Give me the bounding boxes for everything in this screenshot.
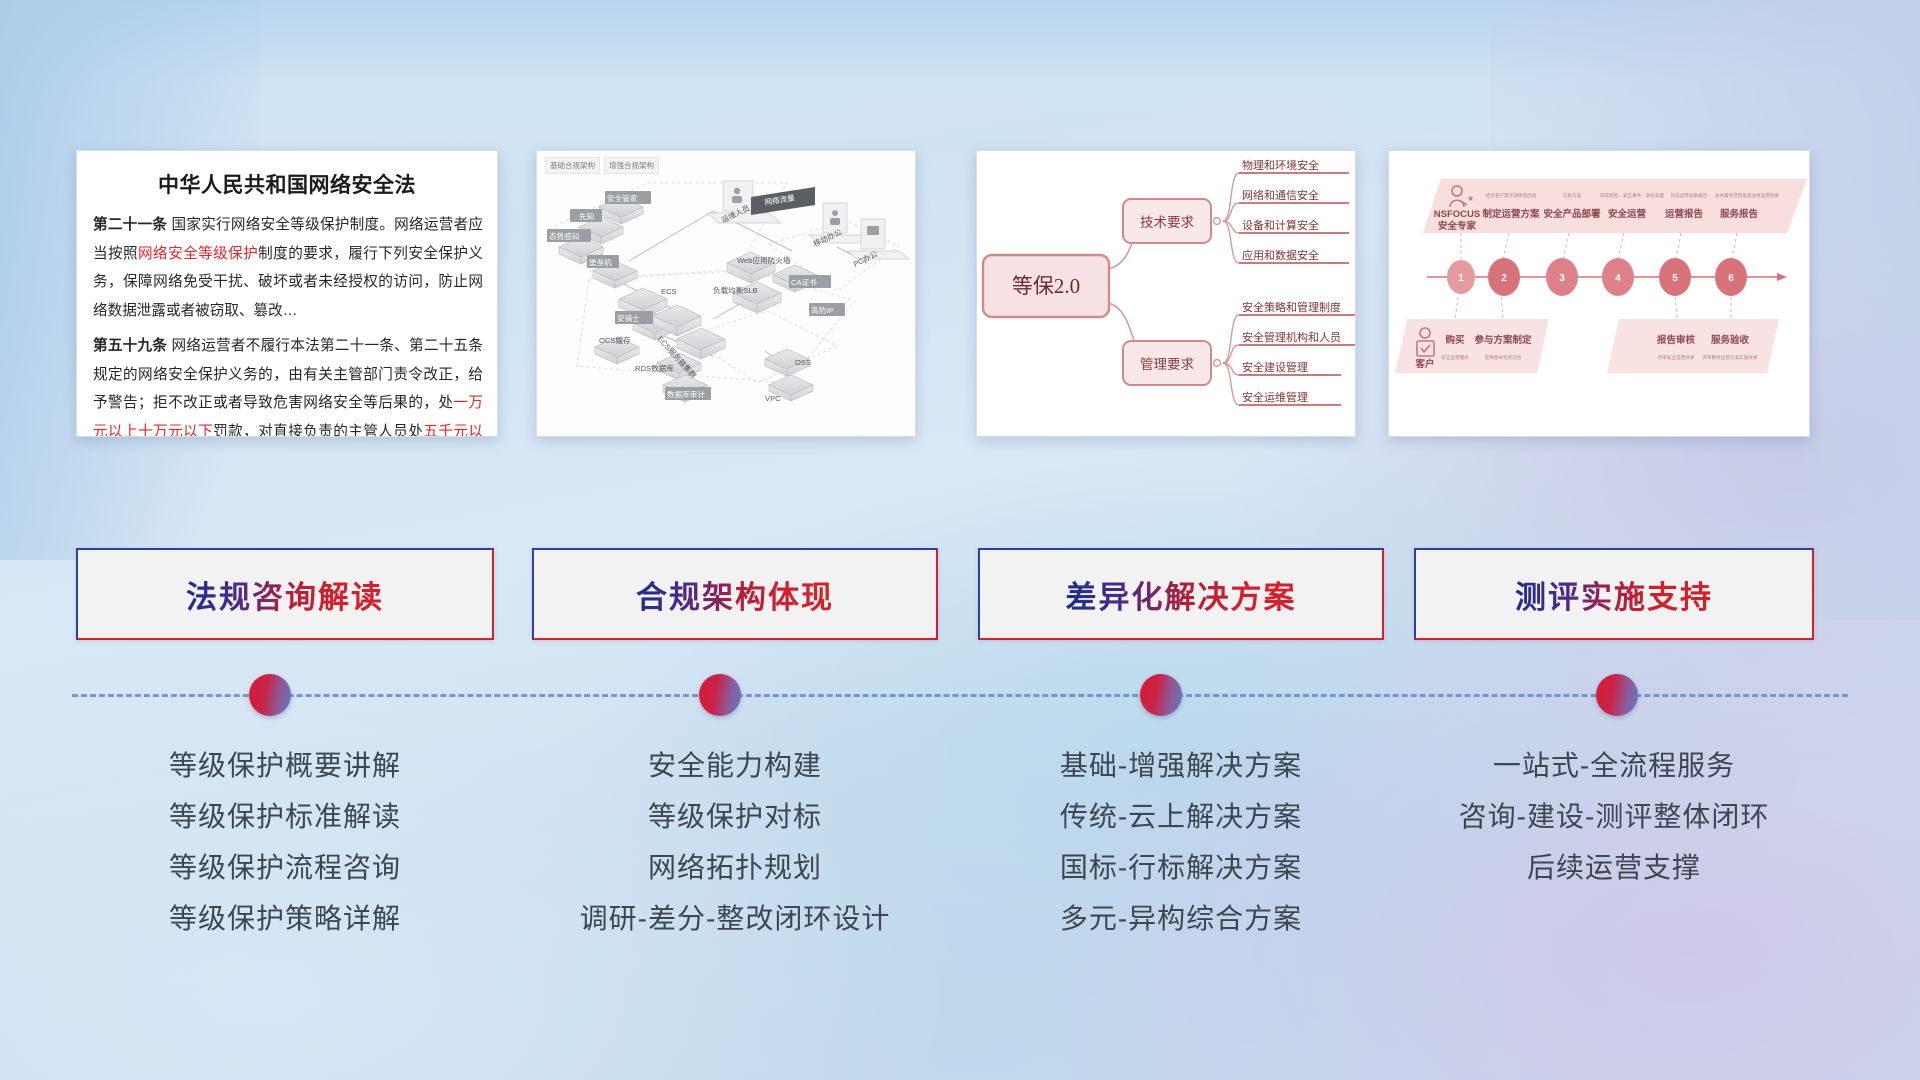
process-bottom-step-3-sub: 评审安全运营效果 — [1658, 354, 1695, 361]
process-step-num-4: 4 — [1615, 273, 1621, 284]
process-axis-arrow-icon — [1777, 273, 1787, 281]
mindmap-root-label: 等保2.0 — [1012, 274, 1080, 298]
law-body: 第二十一条 国家实行网络安全等级保护制度。网络运营者应当按照网络安全等级保护制度… — [77, 211, 497, 437]
headline-boxes-row: 法规咨询解读 合规架构体现 差异化解决方案 测评实施支持 — [0, 548, 1920, 640]
timeline-dashed-line — [72, 694, 1848, 697]
headline-label-3: 差异化解决方案 — [1066, 572, 1297, 617]
arch-node-ocs-cache: OCS缓存 — [599, 335, 631, 345]
card-mindmap-dengbao[interactable]: 等保2.0 技术要求 管理要求 — [976, 150, 1356, 437]
arch-node-vpc: VPC — [765, 394, 781, 403]
mindmap-svg: 等保2.0 技术要求 管理要求 — [977, 151, 1355, 436]
law-article-21: 第二十一条 国家实行网络安全等级保护制度。网络运营者应当按照网络安全等级保护制度… — [93, 211, 483, 326]
arch-node-ca-cert: CA证书 — [791, 277, 817, 287]
mindmap-leaf-app-data: 应用和数据安全 — [1242, 248, 1319, 262]
mindmap: 等保2.0 技术要求 管理要求 — [977, 151, 1355, 436]
process-step-6-sub: 总体服务范围复盘总体运营效果 — [1715, 192, 1780, 199]
timeline-dot-2[interactable] — [699, 674, 741, 716]
card-cybersecurity-law[interactable]: 中华人民共和国网络安全法 第二十一条 国家实行网络安全等级保护制度。网络运营者应… — [76, 150, 498, 437]
arch-node-bastion-host: 堡垒机 — [589, 257, 612, 267]
process-step-num-1: 1 — [1458, 273, 1464, 284]
mindmap-leaf-construction-mgmt: 安全建设管理 — [1242, 360, 1308, 374]
timeline-dot-4[interactable] — [1596, 674, 1638, 716]
process-bottom-step-2-sub: 提供基本现状信息 — [1485, 354, 1522, 361]
card-compliance-architecture[interactable]: 基础合规架构 增强合规架构 — [536, 150, 916, 437]
headline-label-2: 合规架构体现 — [636, 572, 834, 617]
architecture-svg: 网络流量 态势感知 先知 安全管家 — [537, 151, 915, 436]
process-step-3-title: 安全产品部署 — [1543, 208, 1601, 220]
arch-node-anti-ddos-ip: 高防IP — [811, 305, 833, 315]
process-bottom-step-1-title: 购买 — [1445, 334, 1465, 346]
list-item: 等级保护对标 — [532, 791, 938, 842]
preview-cards-row: 中华人民共和国网络安全法 第二十一条 国家实行网络安全等级保护制度。网络运营者应… — [0, 150, 1920, 450]
process-step-3-sub: 实施方案 — [1563, 192, 1582, 199]
process-step-num-3: 3 — [1559, 273, 1565, 284]
list-item: 等级保护标准解读 — [76, 791, 494, 842]
process-top-banner — [1423, 179, 1807, 233]
list-item: 基础-增强解决方案 — [978, 740, 1384, 791]
process-bottom-step-1-sub: 安全运营服务 — [1441, 354, 1469, 361]
list-item: 安全能力构建 — [532, 740, 938, 791]
headline-label-1: 法规咨询解读 — [186, 572, 384, 617]
headline-label-4: 测评实施支持 — [1515, 572, 1713, 617]
law-article-59: 第五十九条 网络运营者不履行本法第二十一条、第二十五条规定的网络安全保护义务的，… — [93, 332, 483, 437]
detail-list-column-1: 等级保护概要讲解 等级保护标准解读 等级保护流程咨询 等级保护策略详解 — [76, 740, 494, 944]
card-service-process[interactable]: ★ NSFOCUS 安全专家 客户 制定运营方案 结合客户需求调研后出具 安全产… — [1388, 150, 1810, 437]
list-item: 等级保护概要讲解 — [76, 740, 494, 791]
expert-label-line1: NSFOCUS — [1434, 209, 1480, 220]
arch-node-security-butler: 安全管家 — [607, 193, 638, 203]
mindmap-leaf-device-compute: 设备和计算安全 — [1242, 218, 1319, 232]
process-bottom-step-3-title: 报告审核 — [1657, 334, 1696, 346]
process-step-num-2: 2 — [1501, 273, 1507, 284]
mindmap-collapse-icon-management[interactable] — [1214, 360, 1221, 367]
process-bottom-banner-right — [1607, 319, 1779, 373]
process-step-5-title: 运营报告 — [1665, 208, 1704, 220]
process-step-2-title: 制定运营方案 — [1482, 208, 1540, 220]
list-item: 调研-差分-整改闭环设计 — [532, 893, 938, 944]
timeline-dot-1[interactable] — [249, 674, 291, 716]
expert-star-icon: ★ — [1467, 194, 1474, 203]
process-step-2-sub: 结合客户需求调研后出具 — [1486, 192, 1537, 199]
mindmap-leaf-policy-system: 安全策略和管理制度 — [1242, 300, 1341, 314]
list-item: 一站式-全流程服务 — [1414, 740, 1814, 791]
process-diagram: ★ NSFOCUS 安全专家 客户 制定运营方案 结合客户需求调研后出具 安全产… — [1389, 151, 1809, 436]
detail-list-column-4: 一站式-全流程服务 咨询-建设-测评整体闭环 后续运营支撑 — [1414, 740, 1814, 893]
mindmap-leaf-physical-env: 物理和环境安全 — [1242, 158, 1319, 172]
process-step-4-title: 安全运营 — [1608, 208, 1647, 220]
detail-list-column-2: 安全能力构建 等级保护对标 网络拓扑规划 调研-差分-整改闭环设计 — [532, 740, 938, 944]
mindmap-branch-management-label: 管理要求 — [1140, 357, 1194, 372]
process-step-6-title: 服务报告 — [1720, 208, 1759, 220]
arch-node-waf: Web应用防火墙 — [737, 255, 791, 265]
arch-node-situation-awareness: 态势感知 — [549, 231, 579, 241]
process-svg: ★ NSFOCUS 安全专家 客户 制定运营方案 结合客户需求调研后出具 安全产… — [1389, 151, 1809, 436]
list-item: 等级保护流程咨询 — [76, 842, 494, 893]
list-item: 传统-云上解决方案 — [978, 791, 1384, 842]
headline-box-differentiated-solution[interactable]: 差异化解决方案 — [978, 548, 1384, 640]
mindmap-branch-technical-label: 技术要求 — [1140, 215, 1194, 230]
process-bottom-step-4-title: 服务验收 — [1711, 334, 1750, 346]
arch-node-oss: OSS — [795, 358, 811, 367]
arch-node-slb: 负载均衡SLB — [713, 285, 758, 295]
mindmap-leaf-org-personnel: 安全管理机构和人员 — [1242, 330, 1341, 344]
process-step-num-6: 6 — [1728, 273, 1734, 284]
process-step-num-5: 5 — [1672, 273, 1678, 284]
detail-lists-row: 等级保护概要讲解 等级保护标准解读 等级保护流程咨询 等级保护策略详解 安全能力… — [0, 740, 1920, 1000]
article-59-label: 第五十九条 — [93, 338, 167, 354]
headline-box-compliance-architecture[interactable]: 合规架构体现 — [532, 548, 938, 640]
process-step-5-sub: 阶段运营效果报告 — [1671, 192, 1708, 199]
arch-node-xianzhi: 先知 — [579, 211, 594, 221]
list-item: 网络拓扑规划 — [532, 842, 938, 893]
detail-list-column-3: 基础-增强解决方案 传统-云上解决方案 国标-行标解决方案 多元-异构综合方案 — [978, 740, 1384, 944]
mindmap-leaf-ops-mgmt: 安全运维管理 — [1242, 390, 1308, 404]
article-21-label: 第二十一条 — [93, 217, 167, 233]
timeline — [0, 663, 1920, 743]
headline-box-assessment-support[interactable]: 测评实施支持 — [1414, 548, 1814, 640]
article-59-text-b: 罚款，对直接负责的主管人员处 — [213, 424, 423, 437]
list-item: 多元-异构综合方案 — [978, 893, 1384, 944]
customer-label: 客户 — [1414, 358, 1434, 370]
list-item: 国标-行标解决方案 — [978, 842, 1384, 893]
arch-node-anqishi: 安骑士 — [617, 313, 640, 323]
arch-node-ecs: ECS — [661, 287, 677, 296]
headline-box-regulation-consulting[interactable]: 法规咨询解读 — [76, 548, 494, 640]
arch-node-rds: RDS数据库 — [635, 363, 674, 373]
process-step-4-sub: 日常巡检、安全事件、高危处置 — [1600, 192, 1665, 199]
mindmap-leaf-network-comm: 网络和通信安全 — [1242, 188, 1319, 202]
mindmap-collapse-icon-technical[interactable] — [1214, 218, 1221, 225]
process-bottom-step-2-title: 参与方案制定 — [1473, 334, 1532, 346]
list-item: 等级保护策略详解 — [76, 893, 494, 944]
expert-label-line2: 安全专家 — [1438, 220, 1477, 232]
arch-node-db-audit: 数据库审计 — [667, 389, 705, 399]
article-21-highlight: 网络安全等级保护 — [138, 246, 258, 262]
law-title: 中华人民共和国网络安全法 — [77, 169, 497, 199]
list-item: 咨询-建设-测评整体闭环 — [1414, 791, 1814, 842]
timeline-dot-3[interactable] — [1140, 674, 1182, 716]
architecture-diagram: 基础合规架构 增强合规架构 — [537, 151, 915, 436]
process-bottom-step-4-sub: 评审整体运营方案实施效果 — [1702, 354, 1758, 361]
list-item: 后续运营支撑 — [1414, 842, 1814, 893]
